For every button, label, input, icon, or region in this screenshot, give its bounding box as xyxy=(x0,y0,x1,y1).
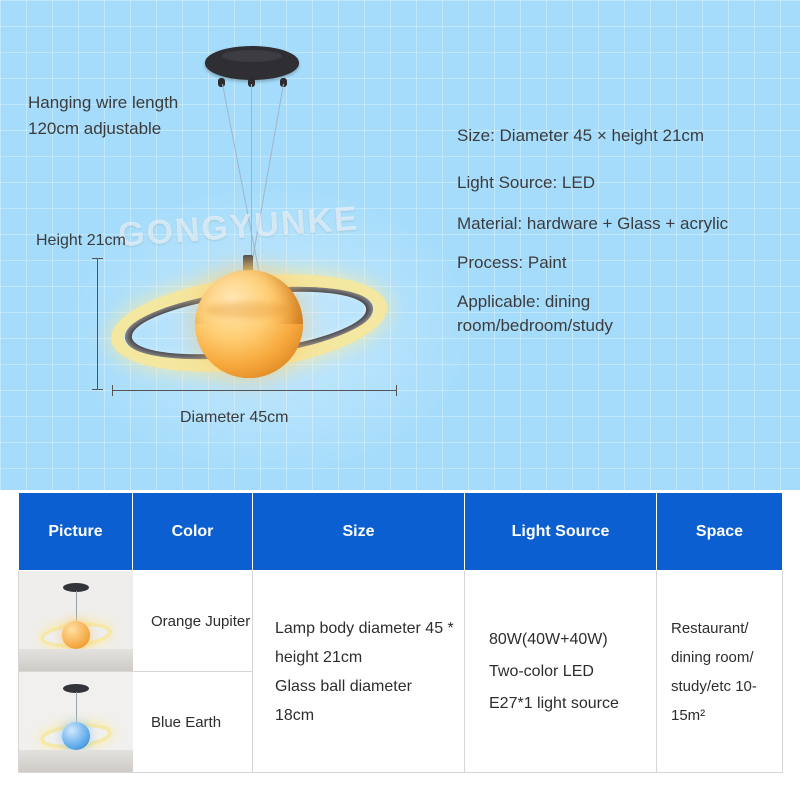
spec-light-source: Light Source: LED xyxy=(457,171,595,195)
hanging-wire xyxy=(251,84,252,269)
table-row: Orange Jupiter Lamp body diameter 45 * h… xyxy=(19,571,783,672)
cell-picture xyxy=(19,571,133,672)
brand-watermark: GONGYUNKE xyxy=(117,200,360,256)
cell-size: Lamp body diameter 45 * height 21cm Glas… xyxy=(253,571,465,773)
annotation-diameter: Diameter 45cm xyxy=(180,405,288,431)
saturn-pendant-lamp xyxy=(110,255,400,375)
hero-illustration: GONGYUNKE Hanging wire length 120cm adju… xyxy=(0,0,800,490)
spec-applicable: Applicable: dining room/bedroom/study xyxy=(457,290,707,338)
spec-table-wrapper: Picture Color Size Light Source Space xyxy=(18,492,782,773)
hanging-wire xyxy=(222,84,261,281)
ceiling-mount-plate xyxy=(205,46,299,80)
diameter-measure-bar xyxy=(112,390,397,391)
column-header-space: Space xyxy=(657,493,783,571)
spec-table: Picture Color Size Light Source Space xyxy=(18,492,783,773)
cell-light-source: 80W(40W+40W) Two-color LED E27*1 light s… xyxy=(465,571,657,773)
thumb-wire xyxy=(76,692,77,722)
hanging-wire xyxy=(248,84,284,281)
column-header-color: Color xyxy=(133,493,253,571)
product-detail-page: GONGYUNKE Hanging wire length 120cm adju… xyxy=(0,0,800,800)
cell-picture xyxy=(19,672,133,773)
cell-color-orange-jupiter: Orange Jupiter xyxy=(133,571,253,672)
cell-space: Restaurant/ dining room/ study/etc 10-15… xyxy=(657,571,783,773)
column-header-picture: Picture xyxy=(19,493,133,571)
table-header-row: Picture Color Size Light Source Space xyxy=(19,493,783,571)
column-header-size: Size xyxy=(253,493,465,571)
annotation-hanging-wire: Hanging wire length 120cm adjustable xyxy=(28,90,178,142)
thumb-wire xyxy=(76,591,77,621)
spec-material: Material: hardware + Glass + acrylic xyxy=(457,212,728,236)
annotation-height: Height 21cm xyxy=(36,228,126,254)
thumb-globe xyxy=(62,621,90,649)
column-header-light-source: Light Source xyxy=(465,493,657,571)
thumb-globe xyxy=(62,722,90,750)
spec-process: Process: Paint xyxy=(457,251,567,275)
blue-earth-lamp-thumbnail xyxy=(19,672,133,772)
orange-jupiter-lamp-thumbnail xyxy=(19,571,133,671)
thumb-floor xyxy=(19,750,133,772)
height-measure-bar xyxy=(97,258,98,390)
cell-color-blue-earth: Blue Earth xyxy=(133,672,253,773)
spec-size: Size: Diameter 45 × height 21cm xyxy=(457,124,704,148)
thumb-floor xyxy=(19,649,133,671)
